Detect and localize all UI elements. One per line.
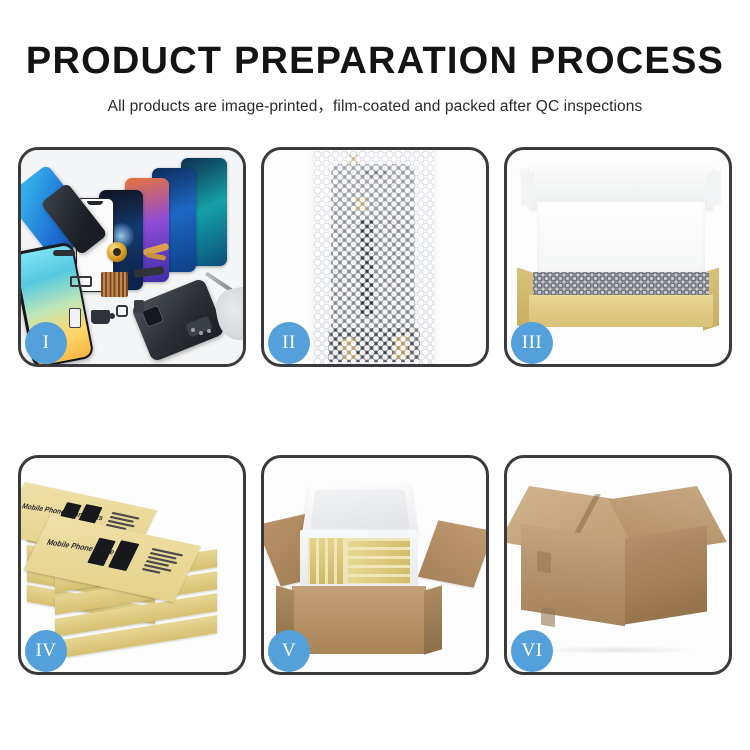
step-badge-5: V: [268, 630, 310, 672]
step-badge-3: III: [511, 322, 553, 364]
process-step-panel-4[interactable]: Mobile Phone Spare Parts Mobile Phone Sp…: [18, 455, 246, 675]
battery-strip-icon: [53, 250, 75, 256]
process-step-panel-2[interactable]: II: [261, 147, 489, 367]
packing-tape-lower-icon: [541, 607, 555, 627]
carton-shadow: [537, 646, 697, 654]
step-badge-1: I: [25, 322, 67, 364]
step-badge-4: IV: [25, 630, 67, 672]
bubble-wrap-icon: [314, 150, 434, 364]
sim-tray-icon: [69, 308, 81, 328]
process-step-panel-5[interactable]: V: [261, 455, 489, 675]
foam-cooler-lid-icon: [302, 484, 419, 536]
brown-shipping-carton-icon: [292, 586, 426, 654]
packing-tape-upper-icon: [537, 551, 551, 573]
page-title: PRODUCT PREPARATION PROCESS: [0, 42, 750, 80]
process-step-panel-6[interactable]: VI: [504, 455, 732, 675]
screws-icon: [191, 328, 213, 338]
carton-flap-right-icon: [418, 520, 486, 587]
camera-module-icon: [116, 305, 128, 317]
step-badge-6: VI: [511, 630, 553, 672]
white-foam-sheet-icon: [537, 202, 705, 276]
speaker-module-icon: [91, 310, 110, 324]
product-preparation-process-page: PRODUCT PREPARATION PROCESS All products…: [0, 0, 750, 750]
circuit-board-grid-icon: [101, 272, 128, 297]
sim-card-icon: [134, 300, 144, 313]
process-step-panel-3[interactable]: III: [504, 147, 732, 367]
carton-side-face-icon: [625, 526, 707, 625]
poly-bag-icon: [314, 150, 434, 364]
metal-bracket-icon: [70, 276, 92, 287]
vibration-motor-icon: [107, 242, 127, 262]
page-header: PRODUCT PREPARATION PROCESS All products…: [0, 0, 750, 116]
yellow-boxes-inside-icon: [308, 538, 410, 584]
carton-front-face-icon: [521, 524, 625, 626]
yellow-mailer-box-icon: [529, 295, 713, 327]
page-subtitle: All products are image-printed，film-coat…: [0, 94, 750, 116]
process-step-panel-1[interactable]: I: [18, 147, 246, 367]
step-badge-2: II: [268, 322, 310, 364]
retail-box-text-lines-front: [141, 548, 185, 579]
